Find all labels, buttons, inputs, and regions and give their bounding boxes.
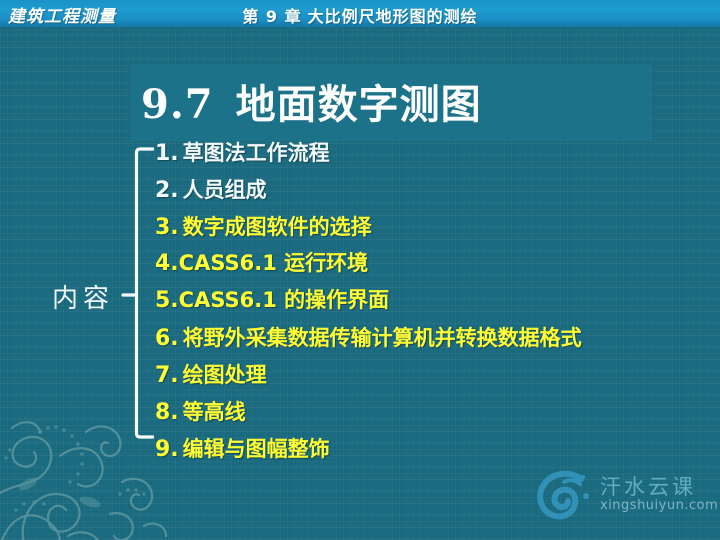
list-item[interactable]: 4.CASS6.1 运行环境 (155, 245, 715, 282)
header-bar: 建筑工程测量 第 9 章大比例尺地形图的测绘 (0, 0, 720, 27)
list-item-number: 6. (155, 326, 179, 351)
list-item-number: 9. (155, 437, 179, 462)
list-item-label: 人员组成 (183, 177, 267, 202)
content-label: 内容 (52, 278, 114, 315)
list-item[interactable]: 7.绘图处理 (155, 356, 715, 393)
watermark-cn-text: 汗水云课 (600, 471, 696, 501)
list-item-number: 4. (155, 251, 179, 276)
list-item[interactable]: 2.人员组成 (155, 171, 715, 208)
list-item[interactable]: 5.CASS6.1 的操作界面 (155, 282, 715, 319)
list-item-label: 将野外采集数据传输计算机并转换数据格式 (183, 325, 582, 350)
list-item-label: 等高线 (183, 399, 246, 424)
watermark: 汗水云课 xingshuiyun.com (536, 468, 716, 530)
square-brace-icon (120, 146, 154, 440)
slide-canvas: 建筑工程测量 第 9 章大比例尺地形图的测绘 9.7地面数字测图 内容 1.草图… (0, 0, 720, 540)
list-item-number: 5. (155, 288, 179, 313)
chapter-heading: 第 9 章大比例尺地形图的测绘 (0, 3, 720, 27)
list-item-number: 7. (155, 363, 179, 388)
section-number: 9.7 (141, 81, 214, 128)
list-item[interactable]: 1.草图法工作流程 (155, 134, 715, 171)
watermark-en-text: xingshuiyun.com (600, 498, 718, 513)
list-item-label: CASS6.1 运行环境 (179, 251, 368, 275)
list-item[interactable]: 9.编辑与图幅整饰 (155, 430, 715, 467)
list-item[interactable]: 8.等高线 (155, 393, 715, 430)
list-item-label: 数字成图软件的选择 (183, 214, 372, 239)
list-item[interactable]: 6.将野外采集数据传输计算机并转换数据格式 (155, 319, 715, 356)
list-item-label: 绘图处理 (183, 362, 267, 387)
outline-list: 1.草图法工作流程 2.人员组成 3.数字成图软件的选择 4.CASS6.1 运… (155, 134, 715, 467)
list-item-label: 编辑与图幅整饰 (183, 436, 330, 461)
page-title: 9.7地面数字测图 (141, 72, 661, 130)
list-item-number: 2. (155, 178, 179, 203)
chapter-title: 大比例尺地形图的测绘 (308, 7, 478, 26)
list-item-label: CASS6.1 的操作界面 (179, 288, 389, 312)
chapter-label: 第 9 章 (242, 7, 301, 26)
section-title: 地面数字测图 (236, 81, 482, 128)
list-item-number: 1. (155, 141, 179, 166)
list-item-number: 3. (155, 215, 179, 240)
list-item-number: 8. (155, 400, 179, 425)
list-item-label: 草图法工作流程 (183, 140, 330, 165)
wave-circle-logo-icon (536, 470, 592, 522)
list-item[interactable]: 3.数字成图软件的选择 (155, 208, 715, 245)
